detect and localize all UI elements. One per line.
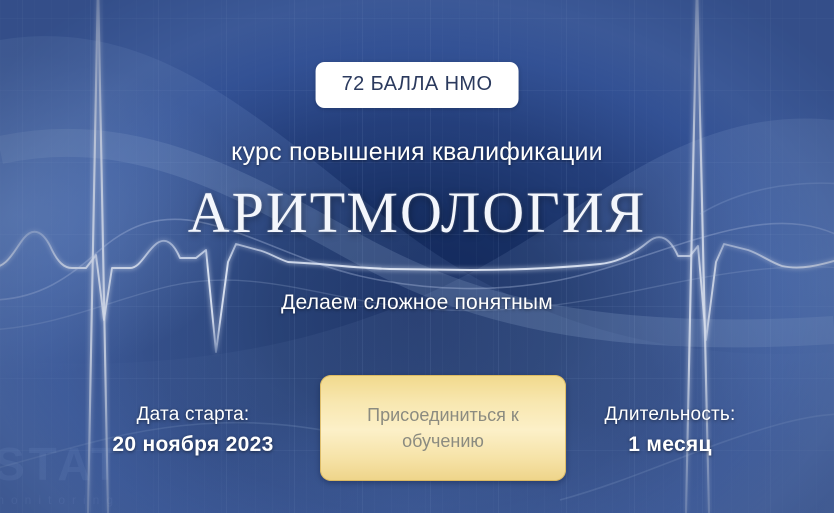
start-date-label: Дата старта: bbox=[78, 404, 308, 426]
page-title: АРИТМОЛОГИЯ bbox=[0, 183, 834, 244]
duration-block: Длительность: 1 месяц bbox=[555, 404, 785, 457]
cme-points-badge: 72 БАЛЛА НМО bbox=[316, 62, 519, 108]
duration-value: 1 месяц bbox=[555, 433, 785, 457]
join-course-button[interactable]: Присоединиться к обучению bbox=[320, 375, 566, 481]
course-kicker: курс повышения квалификации bbox=[0, 138, 834, 167]
start-date-value: 20 ноября 2023 bbox=[78, 433, 308, 457]
duration-label: Длительность: bbox=[555, 404, 785, 426]
banner-content: 72 БАЛЛА НМО курс повышения квалификации… bbox=[0, 0, 834, 513]
start-date-block: Дата старта: 20 ноября 2023 bbox=[78, 404, 308, 457]
arrhythmology-course-banner: STAT monitoring 72 БАЛЛА НМО курс повыше… bbox=[0, 0, 834, 513]
course-tagline: Делаем сложное понятным bbox=[0, 291, 834, 315]
